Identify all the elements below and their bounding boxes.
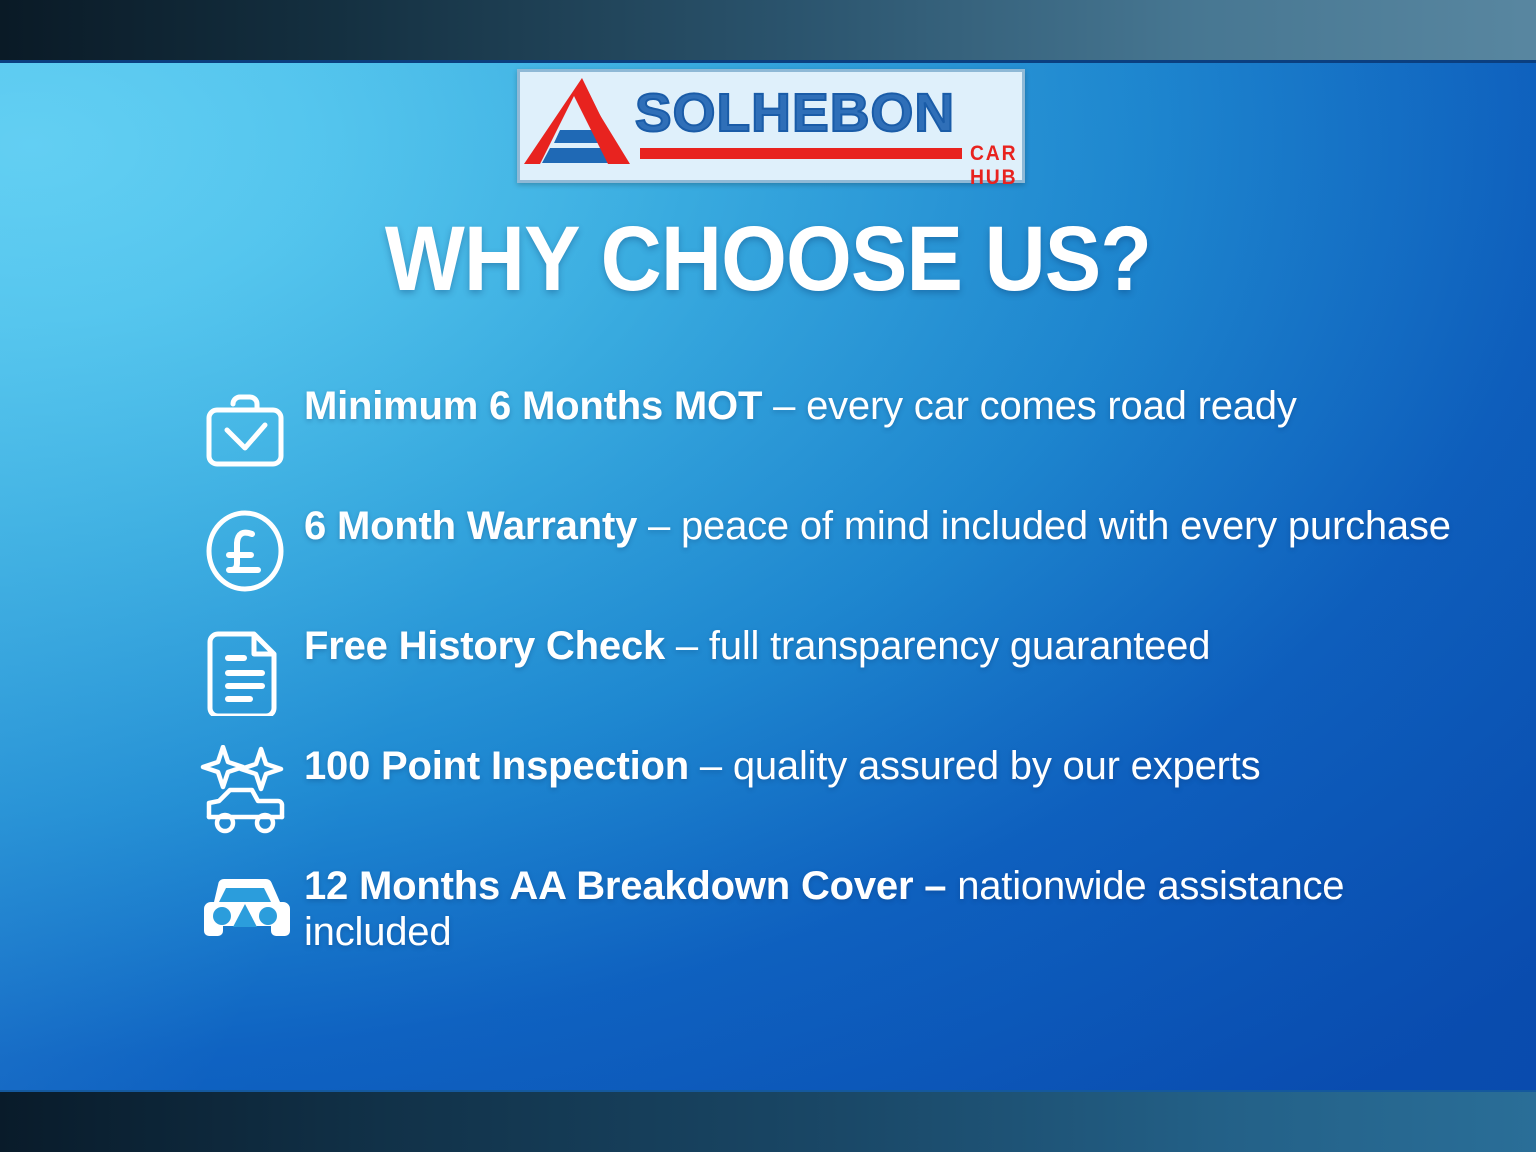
list-item-lead: 6 Month Warranty bbox=[304, 504, 637, 548]
list-item-lead: 12 Months AA Breakdown Cover – bbox=[304, 864, 946, 908]
list-item-lead: Free History Check bbox=[304, 624, 665, 668]
red-chevron-with-blue-bars-icon bbox=[520, 72, 638, 180]
document-lines-icon bbox=[186, 621, 304, 717]
list-item-rest: – full transparency guaranteed bbox=[665, 624, 1210, 668]
list-item-text: 12 Months AA Breakdown Cover – nationwid… bbox=[304, 861, 1486, 956]
page-title: WHY CHOOSE US? bbox=[61, 213, 1474, 305]
pound-coin-icon bbox=[186, 501, 304, 597]
sparkling-car-icon bbox=[186, 741, 304, 837]
list-item-rest: – peace of mind included with every purc… bbox=[637, 504, 1451, 548]
list-item-text: Minimum 6 Months MOT – every car comes r… bbox=[304, 381, 1486, 429]
brand-underbar bbox=[640, 148, 962, 159]
list-item: 12 Months AA Breakdown Cover – nationwid… bbox=[186, 861, 1486, 957]
letterbox-bottom-bar bbox=[0, 1090, 1536, 1152]
list-item-text: Free History Check – full transparency g… bbox=[304, 621, 1486, 669]
list-item: Minimum 6 Months MOT – every car comes r… bbox=[186, 381, 1486, 477]
list-item: 100 Point Inspection – quality assured b… bbox=[186, 741, 1486, 837]
list-item: Free History Check – full transparency g… bbox=[186, 621, 1486, 717]
brand-subtext: CAR HUB bbox=[970, 142, 1018, 190]
brand-wordmark: SOLHEBON bbox=[635, 86, 955, 140]
brand-wordblock: SOLHEBON CAR HUB bbox=[638, 72, 1022, 180]
list-item-text: 100 Point Inspection – quality assured b… bbox=[304, 741, 1486, 789]
list-item-rest: – every car comes road ready bbox=[762, 384, 1296, 428]
poster-canvas: SOLHEBON CAR HUB WHY CHOOSE US? Minim bbox=[0, 63, 1536, 1090]
feature-list: Minimum 6 Months MOT – every car comes r… bbox=[186, 381, 1486, 981]
car-front-icon bbox=[186, 861, 304, 957]
list-item-rest: – quality assured by our experts bbox=[689, 744, 1261, 788]
list-item-text: 6 Month Warranty – peace of mind include… bbox=[304, 501, 1486, 549]
list-item: 6 Month Warranty – peace of mind include… bbox=[186, 501, 1486, 597]
poster-stage: SOLHEBON CAR HUB WHY CHOOSE US? Minim bbox=[0, 0, 1536, 1152]
letterbox-top-bar bbox=[0, 0, 1536, 63]
brand-logo[interactable]: SOLHEBON CAR HUB bbox=[517, 69, 1025, 183]
list-item-lead: Minimum 6 Months MOT bbox=[304, 384, 762, 428]
list-item-lead: 100 Point Inspection bbox=[304, 744, 689, 788]
briefcase-check-icon bbox=[186, 381, 304, 477]
